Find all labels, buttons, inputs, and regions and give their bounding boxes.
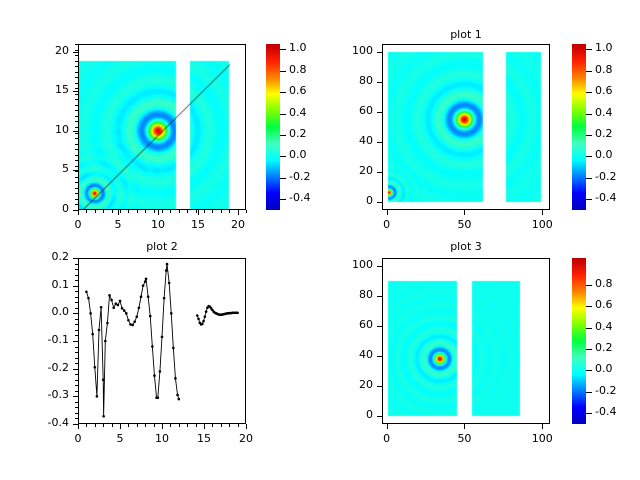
ytick-bottom-right-1 <box>377 386 382 387</box>
heatmap-bottom-right <box>383 259 549 423</box>
ytick-bottom-right-0 <box>377 416 382 417</box>
colorbar-ticklabel-bottom-right-5: -0.2 <box>595 384 639 397</box>
yticklabel-bottom-right-4: 80 <box>329 288 373 301</box>
ytick-bottom-right-2 <box>377 356 382 357</box>
xtick-bottom-right-1 <box>464 424 465 429</box>
xticklabel-bottom-right-1: 50 <box>439 432 489 445</box>
figure-canvas: 05101520051015201.00.80.60.40.20.0-0.2-0… <box>0 0 640 480</box>
yticklabel-bottom-right-1: 20 <box>329 378 373 391</box>
colorbar-tick-bottom-right-4 <box>586 370 592 371</box>
colorbar-ticklabel-bottom-right-2: 0.4 <box>595 320 639 333</box>
colorbar-ticklabel-bottom-right-6: -0.4 <box>595 405 639 418</box>
colorbar-tick-bottom-right-6 <box>586 413 592 414</box>
colorbar-ticklabel-bottom-right-1: 0.6 <box>595 298 639 311</box>
panel-title-bottom-right: plot 3 <box>406 240 526 253</box>
xtick-bottom-right-2 <box>542 424 543 429</box>
colorbar-ticklabel-bottom-right-3: 0.2 <box>595 341 639 354</box>
colorbar-tick-bottom-right-0 <box>586 285 592 286</box>
yticklabel-bottom-right-5: 100 <box>329 258 373 271</box>
xtick-bottom-right-0 <box>387 424 388 429</box>
yticklabel-bottom-right-2: 40 <box>329 348 373 361</box>
colorbar-tick-bottom-right-1 <box>586 306 592 307</box>
colorbar-tick-bottom-right-3 <box>586 349 592 350</box>
xticklabel-bottom-right-0: 0 <box>362 432 412 445</box>
colorbar-gradient-bottom-right <box>572 258 586 424</box>
ytick-bottom-right-5 <box>377 266 382 267</box>
ytick-bottom-right-4 <box>377 296 382 297</box>
panel-bottom-right: plot 30501000204060801000.80.60.40.20.0-… <box>0 0 640 480</box>
xticklabel-bottom-right-2: 100 <box>517 432 567 445</box>
colorbar-tick-bottom-right-2 <box>586 328 592 329</box>
colorbar-ticklabel-bottom-right-0: 0.8 <box>595 277 639 290</box>
yticklabel-bottom-right-3: 60 <box>329 318 373 331</box>
colorbar-tick-bottom-right-5 <box>586 392 592 393</box>
yticklabel-bottom-right-0: 0 <box>329 408 373 421</box>
ytick-bottom-right-3 <box>377 326 382 327</box>
colorbar-ticklabel-bottom-right-4: 0.0 <box>595 362 639 375</box>
